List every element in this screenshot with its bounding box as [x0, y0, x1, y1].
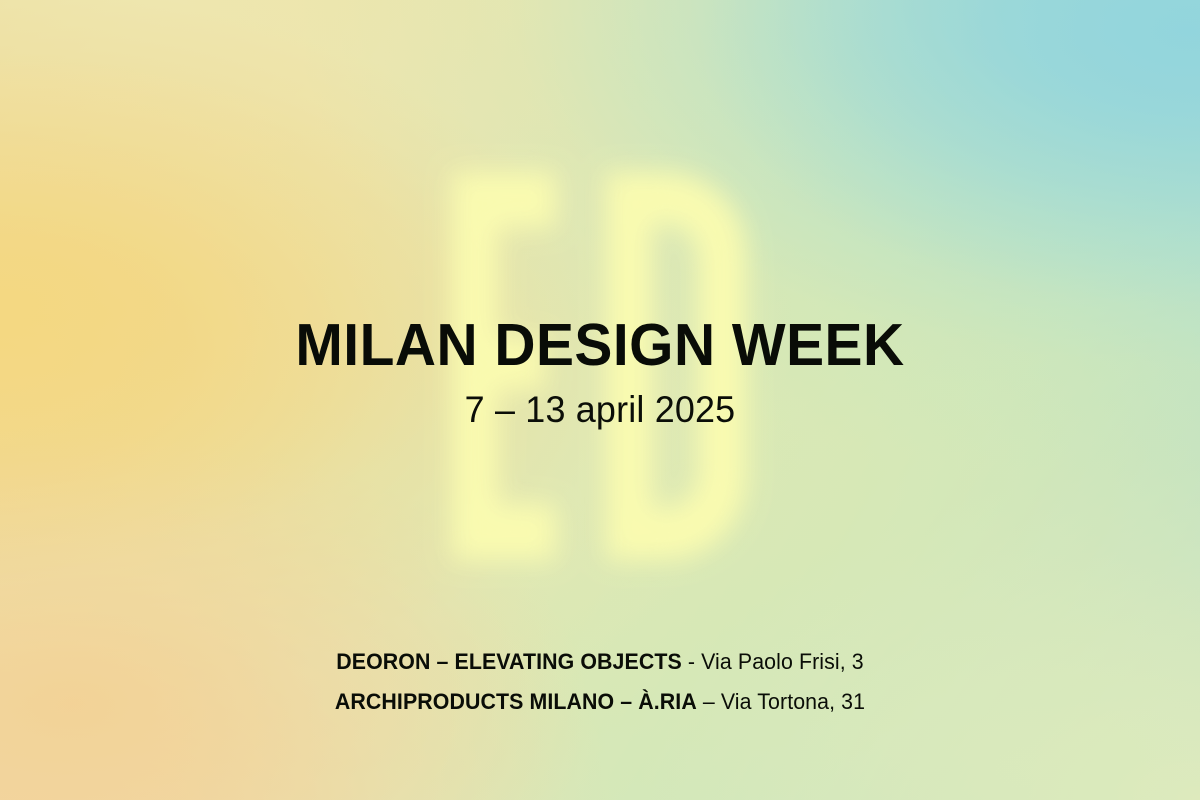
event-dates: 7 – 13 april 2025: [18, 391, 1182, 428]
venue-address: – Via Tortona, 31: [697, 689, 865, 714]
venue-item: DEORON – ELEVATING OBJECTS - Via Paolo F…: [18, 642, 1182, 682]
venue-list: DEORON – ELEVATING OBJECTS - Via Paolo F…: [0, 642, 1200, 722]
milan-design-week-poster: MILAN DESIGN WEEK 7 – 13 april 2025 DEOR…: [0, 0, 1200, 800]
page-title: MILAN DESIGN WEEK: [21, 316, 1179, 375]
venue-address: - Via Paolo Frisi, 3: [682, 649, 864, 674]
venue-name: DEORON – ELEVATING OBJECTS: [336, 649, 682, 674]
venue-name: ARCHIPRODUCTS MILANO – À.RIA: [335, 689, 697, 714]
venue-item: ARCHIPRODUCTS MILANO – À.RIA – Via Torto…: [18, 682, 1182, 722]
headline-lockup: MILAN DESIGN WEEK 7 – 13 april 2025: [0, 316, 1200, 428]
